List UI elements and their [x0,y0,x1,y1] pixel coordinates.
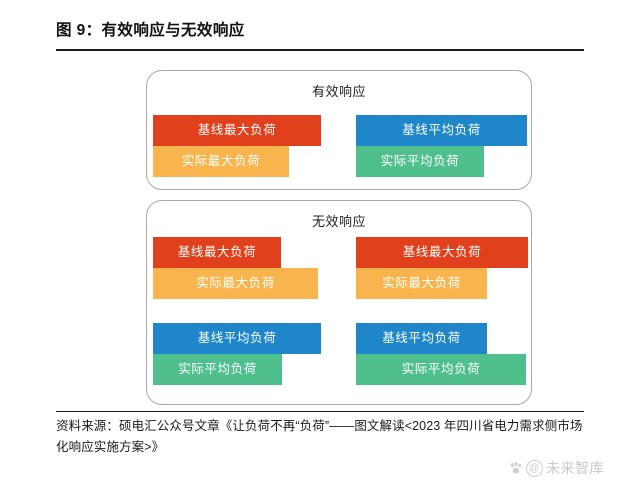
watermark: @ 未来智库 [508,458,604,478]
bar-actual-avg-load: 实际平均负荷 [356,146,484,177]
bar-actual-max-load: 实际最大负荷 [153,268,318,299]
bar-baseline-avg-load: 基线平均负荷 [153,323,321,354]
bar-baseline-max-load: 基线最大负荷 [153,115,321,146]
source-note: 资料来源：硕电汇公众号文章《让负荷不再“负荷”——图文解读<2023 年四川省电… [56,416,586,458]
bar-actual-avg-load: 实际平均负荷 [153,354,282,385]
panel-title-effective: 有效响应 [147,81,531,100]
source-divider [56,411,584,412]
watermark-label: 未来智库 [546,458,604,478]
diagram-canvas: 有效响应 基线最大负荷 实际最大负荷 基线平均负荷 实际平均负荷 无效响应 基线… [56,60,584,405]
bar-group-ineffective-avg-load-left: 基线平均负荷 实际平均负荷 [153,323,321,385]
panel-title-ineffective: 无效响应 [147,211,531,230]
page-title: 图 9：有效响应与无效响应 [56,20,584,42]
bar-baseline-avg-load: 基线平均负荷 [356,115,527,146]
bar-group-effective-max-load: 基线最大负荷 实际最大负荷 [153,115,321,177]
bar-actual-max-load: 实际最大负荷 [153,146,289,177]
bar-baseline-max-load: 基线最大负荷 [153,237,281,268]
paw-icon [508,461,523,476]
panel-effective-response: 有效响应 基线最大负荷 实际最大负荷 基线平均负荷 实际平均负荷 [146,70,532,190]
bar-baseline-avg-load: 基线平均负荷 [356,323,487,354]
figure-header: 图 9：有效响应与无效响应 [56,20,584,51]
bar-group-effective-avg-load: 基线平均负荷 实际平均负荷 [356,115,527,177]
at-icon: @ [526,460,543,477]
bar-group-ineffective-max-load-left: 基线最大负荷 实际最大负荷 [153,237,318,299]
bar-group-ineffective-avg-load-right: 基线平均负荷 实际平均负荷 [356,323,526,385]
panel-ineffective-response: 无效响应 基线最大负荷 实际最大负荷 基线最大负荷 实际最大负荷 基线平均负荷 … [146,200,532,405]
bar-actual-max-load: 实际最大负荷 [356,268,487,299]
title-divider [56,49,584,51]
bar-actual-avg-load: 实际平均负荷 [356,354,526,385]
bar-group-ineffective-max-load-right: 基线最大负荷 实际最大负荷 [356,237,528,299]
bar-baseline-max-load: 基线最大负荷 [356,237,528,268]
